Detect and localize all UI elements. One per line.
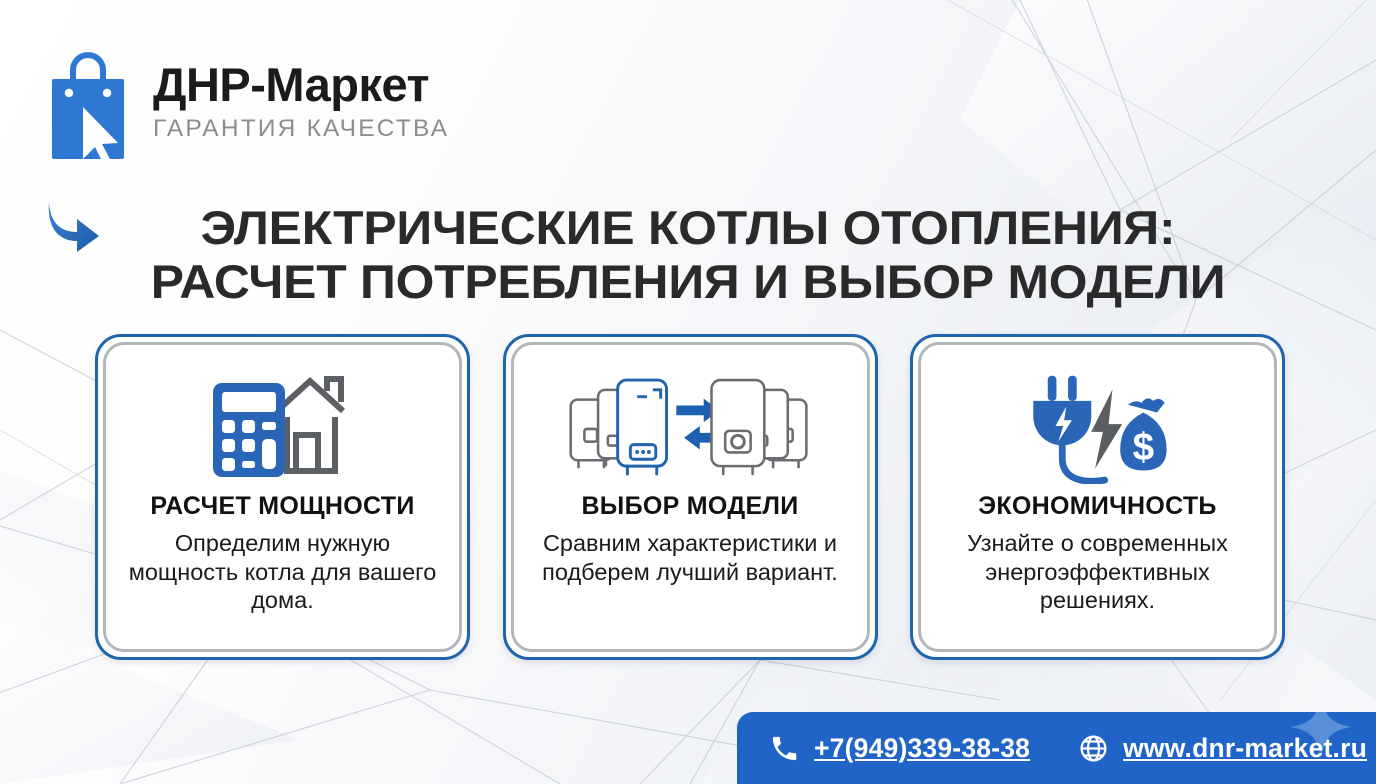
poster-canvas: ДНР-Маркет ГАРАНТИЯ КАЧЕСТВА ЭЛЕКТРИЧЕСК… — [0, 0, 1376, 784]
feature-card-title: РАСЧЕТ МОЩНОСТИ — [150, 494, 414, 519]
brand-name: ДНР-Маркет — [153, 61, 449, 108]
calculator-house-icon — [199, 371, 367, 483]
feature-card-economy[interactable]: $ ЭКОНОМИЧНОСТЬ Узнайте о современных эн… — [910, 334, 1285, 660]
feature-card-title: ЭКОНОМИЧНОСТЬ — [978, 494, 1216, 519]
phone-link[interactable]: +7(949)339-38-38 — [769, 733, 1030, 764]
phone-number: +7(949)339-38-38 — [814, 733, 1030, 764]
page-title: ЭЛЕКТРИЧЕСКИЕ КОТЛЫ ОТОПЛЕНИЯ: РАСЧЕТ ПО… — [0, 201, 1376, 307]
brand-logo[interactable]: ДНР-Маркет ГАРАНТИЯ КАЧЕСТВА — [50, 47, 449, 162]
feature-card-text: Определим нужную мощность котла для ваше… — [122, 529, 443, 615]
svg-text:$: $ — [1132, 426, 1153, 469]
page-title-line1: ЭЛЕКТРИЧЕСКИЕ КОТЛЫ ОТОПЛЕНИЯ: — [201, 201, 1176, 254]
website-link[interactable]: www.dnr-market.ru — [1078, 733, 1367, 764]
feature-card-model[interactable]: ВЫБОР МОДЕЛИ Сравним характеристики и по… — [503, 334, 878, 660]
shopping-bag-cursor-icon — [50, 47, 126, 162]
feature-card-inner: РАСЧЕТ МОЩНОСТИ Определим нужную мощност… — [103, 342, 462, 652]
feature-card-power[interactable]: РАСЧЕТ МОЩНОСТИ Определим нужную мощност… — [95, 334, 470, 660]
boiler-comparison-icon — [557, 371, 823, 483]
feature-cards: РАСЧЕТ МОЩНОСТИ Определим нужную мощност… — [95, 334, 1285, 660]
contact-bar: +7(949)339-38-38 www.dnr-market.ru — [737, 712, 1376, 784]
brand-text: ДНР-Маркет ГАРАНТИЯ КАЧЕСТВА — [153, 47, 449, 142]
feature-card-inner: ВЫБОР МОДЕЛИ Сравним характеристики и по… — [511, 342, 870, 652]
brand-tagline: ГАРАНТИЯ КАЧЕСТВА — [153, 117, 449, 142]
feature-card-title: ВЫБОР МОДЕЛИ — [581, 494, 798, 519]
feature-card-inner: $ ЭКОНОМИЧНОСТЬ Узнайте о современных эн… — [918, 342, 1277, 652]
feature-card-text: Узнайте о современных энергоэффективных … — [937, 529, 1258, 615]
plug-money-bag-icon: $ — [1015, 371, 1181, 483]
website-url: www.dnr-market.ru — [1123, 733, 1367, 764]
phone-icon — [769, 733, 800, 764]
feature-card-text: Сравним характеристики и подберем лучший… — [530, 529, 851, 586]
page-title-line2: РАСЧЕТ ПОТРЕБЛЕНИЯ И ВЫБОР МОДЕЛИ — [1, 255, 1375, 308]
globe-icon — [1078, 733, 1109, 764]
